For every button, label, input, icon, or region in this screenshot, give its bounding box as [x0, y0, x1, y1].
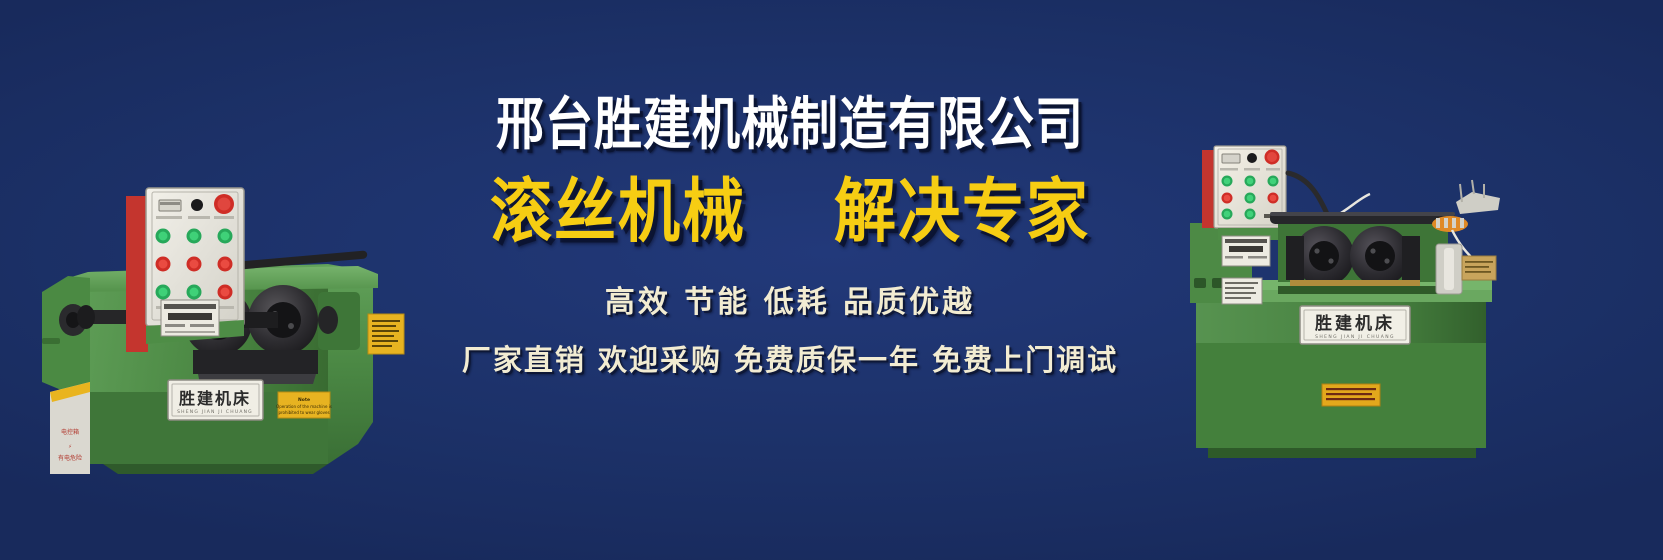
- machine-photo-right: 胜建机床 SHENG JIAN JI CHUANG: [1160, 128, 1560, 458]
- company-name: 邢台胜建机械制造有限公司: [400, 95, 1180, 154]
- svg-text:Operation of the machine is: Operation of the machine is: [276, 404, 332, 409]
- svg-text:⚡: ⚡: [68, 444, 72, 450]
- subline-features: 高效 节能 低耗 品质优越: [400, 277, 1180, 321]
- svg-text:有电危险: 有电危险: [58, 454, 82, 462]
- small-plate: [1222, 278, 1262, 304]
- left-end-housing: [42, 276, 90, 402]
- right-spec-label: [368, 314, 404, 354]
- electrical-cabinet: 电控箱 ⚡ 有电危险: [50, 382, 90, 474]
- safety-label: [1322, 384, 1380, 406]
- spec-plate: [1222, 236, 1270, 266]
- banner-text-block: 邢台胜建机械制造有限公司 滚丝机械 解决专家 高效 节能 低耗 品质优越 厂家直…: [400, 95, 1180, 379]
- brand-nameplate: 胜建机床 SHENG JIAN JI CHUANG: [1300, 306, 1410, 344]
- top-rail: [1270, 212, 1455, 224]
- svg-text:胜建机床: 胜建机床: [179, 389, 251, 408]
- subline-services: 厂家直销 欢迎采购 免费质保一年 免费上门调试: [400, 337, 1180, 379]
- svg-text:SHENG JIAN JI CHUANG: SHENG JIAN JI CHUANG: [1315, 334, 1395, 340]
- svg-text:Note: Note: [298, 397, 310, 403]
- brand-nameplate: 胜建机床 SHENG JIAN JI CHUANG: [168, 380, 263, 420]
- machine-photo-left: 胜建机床 SHENG JIAN JI CHUANG Note Operation…: [28, 92, 408, 474]
- svg-text:电控箱: 电控箱: [61, 428, 79, 436]
- headline-row: 滚丝机械 解决专家: [400, 177, 1180, 239]
- warning-label: Note Operation of the machine is prohibi…: [276, 392, 332, 418]
- svg-text:胜建机床: 胜建机床: [1315, 313, 1395, 334]
- spec-plate: [161, 300, 219, 336]
- headline-right: 解决专家: [834, 177, 1090, 246]
- headline-left: 滚丝机械: [490, 177, 746, 246]
- promo-banner: 胜建机床 SHENG JIAN JI CHUANG Note Operation…: [0, 0, 1663, 560]
- svg-text:prohibited to wear gloves: prohibited to wear gloves: [278, 410, 329, 415]
- svg-text:SHENG JIAN JI CHUANG: SHENG JIAN JI CHUANG: [177, 409, 253, 415]
